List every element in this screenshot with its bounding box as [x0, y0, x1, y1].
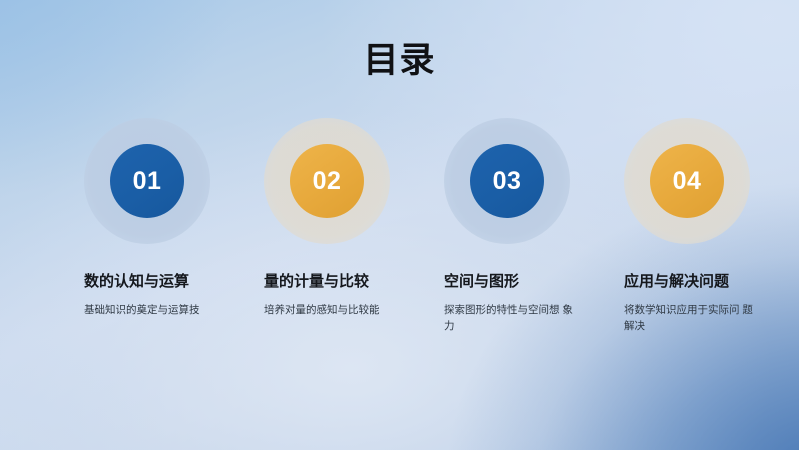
presentation-slide: 目录 01 数的认知与运算 基础知识的奠定与运算技 02 量的计量与比较 培养对…: [0, 0, 799, 450]
badge-number: 04: [673, 169, 702, 194]
agenda-item-description: 基础知识的奠定与运算技: [84, 302, 216, 318]
agenda-item[interactable]: 04 应用与解决问题 将数学知识应用于实际问 题解决: [618, 118, 798, 378]
badge-number: 02: [313, 169, 342, 194]
agenda-item-title: 空间与图形: [444, 273, 618, 291]
agenda-item[interactable]: 02 量的计量与比较 培养对量的感知与比较能: [258, 118, 438, 378]
badge-disc: 02: [290, 144, 364, 218]
agenda-item-title: 数的认知与运算: [84, 273, 258, 291]
badge-number: 01: [133, 169, 162, 194]
page-title: 目录: [0, 41, 799, 81]
agenda-item-title: 应用与解决问题: [624, 273, 798, 291]
agenda-item-badge: 01: [84, 118, 210, 244]
agenda-item-description: 将数学知识应用于实际问 题解决: [624, 302, 756, 335]
agenda-item-badge: 03: [444, 118, 570, 244]
badge-disc: 01: [110, 144, 184, 218]
agenda-item-badge: 04: [624, 118, 750, 244]
agenda-item-list: 01 数的认知与运算 基础知识的奠定与运算技 02 量的计量与比较 培养对量的感…: [0, 118, 799, 378]
agenda-item[interactable]: 01 数的认知与运算 基础知识的奠定与运算技: [78, 118, 258, 378]
agenda-item-description: 培养对量的感知与比较能: [264, 302, 396, 318]
badge-disc: 03: [470, 144, 544, 218]
agenda-item-badge: 02: [264, 118, 390, 244]
agenda-item[interactable]: 03 空间与图形 探索图形的特性与空间想 象力: [438, 118, 618, 378]
agenda-item-description: 探索图形的特性与空间想 象力: [444, 302, 576, 335]
agenda-item-title: 量的计量与比较: [264, 273, 438, 291]
badge-number: 03: [493, 169, 522, 194]
badge-disc: 04: [650, 144, 724, 218]
